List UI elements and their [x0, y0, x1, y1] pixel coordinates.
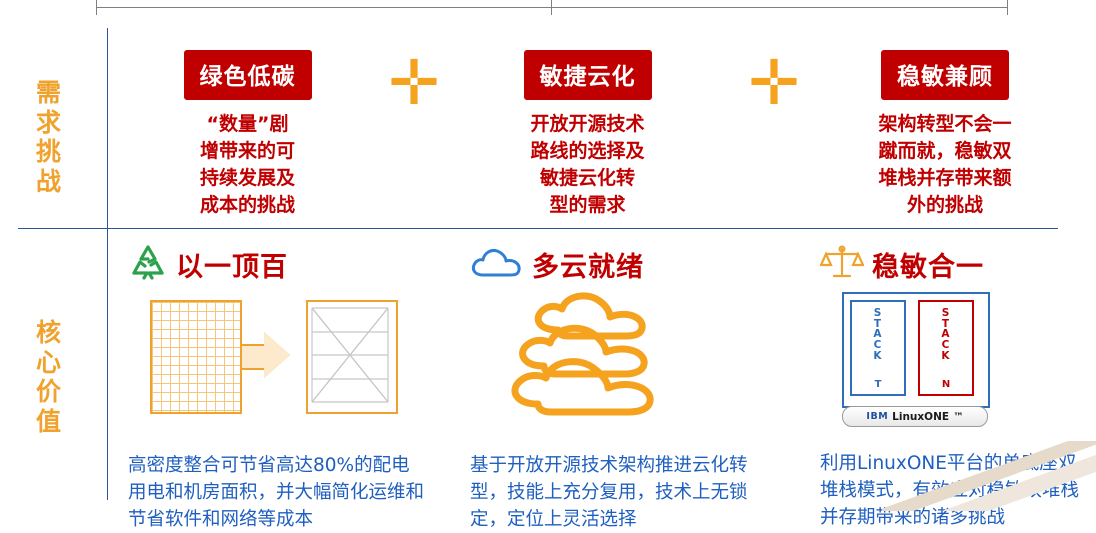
top-bracket	[96, 0, 1008, 16]
demand-char-1: 需	[18, 78, 80, 108]
challenge-card-stable: 稳敏兼顾 架构转型不会一 蹴而就，稳敏双 堆栈并存带来额 外的挑战	[830, 50, 1060, 219]
decorative-swoosh	[876, 441, 1096, 511]
challenge-stable-line-4: 外的挑战	[830, 192, 1060, 219]
bracket-tick-right	[1007, 0, 1008, 15]
challenge-green-line-2: 增带来的可	[140, 138, 355, 165]
demand-char-3: 挑	[18, 137, 80, 167]
demand-char-4: 战	[18, 167, 80, 197]
challenge-stable-line-2: 蹴而就，稳敏双	[830, 138, 1060, 165]
recycle-icon	[128, 243, 168, 285]
cloud-stack-icon	[510, 292, 710, 436]
vertical-divider	[107, 28, 108, 500]
horizontal-divider	[18, 228, 1058, 229]
stack-box-t-tag: T	[852, 379, 904, 390]
left-label-column: 需 求 挑 战 核 心 价 值	[18, 30, 80, 500]
value-char-3: 价	[18, 377, 80, 407]
challenge-body-stable: 架构转型不会一 蹴而就，稳敏双 堆栈并存带来额 外的挑战	[830, 111, 1060, 219]
stack-box-t: STACK T	[850, 300, 906, 396]
demand-char-2: 求	[18, 108, 80, 138]
trademark-mark: ™	[953, 411, 964, 423]
ibm-logo: IBM	[866, 411, 888, 422]
bracket-tick-center	[551, 0, 552, 15]
linuxone-label: LinuxONE	[892, 411, 949, 423]
challenge-green-line-3: 持续发展及	[140, 165, 355, 192]
bracket-tick-left	[96, 0, 97, 15]
challenge-body-agile: 开放开源技术 路线的选择及 敏捷云化转 型的需求	[480, 111, 695, 219]
cloud-icon	[470, 245, 524, 283]
challenge-title-stable: 稳敏兼顾	[881, 50, 1009, 100]
value-header-density: 以一顶百	[128, 242, 428, 286]
value-char-4: 值	[18, 407, 80, 437]
plus-icon-1: ✛	[388, 52, 440, 114]
challenge-stable-line-3: 堆栈并存带来额	[830, 165, 1060, 192]
stack-box-n: STACK N	[918, 300, 974, 396]
value-column-density: 以一顶百 高密度整合可节省高达80%的配电用电和机房面积，并大幅简化运维和节省软…	[128, 242, 428, 533]
value-column-multicloud: 多云就绪 基于开放开源技术架构推进云化转型，技能上充分复用，技术上无锁定，定位上…	[470, 242, 770, 533]
stack-box-t-letters: STACK	[852, 308, 904, 362]
value-char-1: 核	[18, 318, 80, 348]
value-title-multicloud: 多云就绪	[532, 245, 644, 284]
section-label-demand: 需 求 挑 战	[18, 78, 80, 196]
challenge-card-agile: 敏捷云化 开放开源技术 路线的选择及 敏捷云化转 型的需求	[480, 50, 695, 219]
value-desc-density: 高密度整合可节省高达80%的配电用电和机房面积，并大幅简化运维和节省软件和网络等…	[128, 453, 428, 533]
challenge-title-green: 绿色低碳	[184, 50, 312, 100]
linuxone-platform-bar: IBM LinuxONE ™	[842, 406, 988, 427]
stack-box-n-letters: STACK	[920, 308, 972, 362]
section-label-value: 核 心 价 值	[18, 318, 80, 436]
challenge-agile-line-2: 路线的选择及	[480, 138, 695, 165]
value-header-multicloud: 多云就绪	[470, 242, 770, 286]
challenge-body-green: “数量”剧 增带来的可 持续发展及 成本的挑战	[140, 111, 355, 219]
multicloud-illustration	[470, 292, 770, 437]
balance-scale-icon	[820, 244, 864, 284]
challenge-title-agile: 敏捷云化	[524, 50, 652, 100]
value-title-density: 以一顶百	[176, 245, 288, 284]
stack-box-n-tag: N	[920, 379, 972, 390]
dot-grid-block	[150, 300, 242, 414]
value-title-stable-agile: 稳敏合一	[872, 245, 984, 284]
challenge-stable-line-1: 架构转型不会一	[830, 111, 1060, 138]
bracket-line	[96, 7, 1008, 8]
challenge-agile-line-3: 敏捷云化转	[480, 165, 695, 192]
challenge-agile-line-4: 型的需求	[480, 192, 695, 219]
consolidated-block	[306, 300, 398, 414]
challenge-green-line-1: “数量”剧	[140, 111, 355, 138]
plus-icon-2: ✛	[748, 52, 800, 114]
dual-stack-illustration: STACK T STACK N IBM LinuxONE ™	[820, 292, 1080, 437]
value-char-2: 心	[18, 348, 80, 378]
challenge-card-green: 绿色低碳 “数量”剧 增带来的可 持续发展及 成本的挑战	[140, 50, 355, 219]
challenge-agile-line-1: 开放开源技术	[480, 111, 695, 138]
challenge-green-line-4: 成本的挑战	[140, 192, 355, 219]
density-illustration	[128, 292, 428, 437]
value-desc-multicloud: 基于开放开源技术架构推进云化转型，技能上充分复用，技术上无锁定，定位上灵活选择	[470, 453, 770, 533]
value-header-stable-agile: 稳敏合一	[820, 242, 1080, 286]
